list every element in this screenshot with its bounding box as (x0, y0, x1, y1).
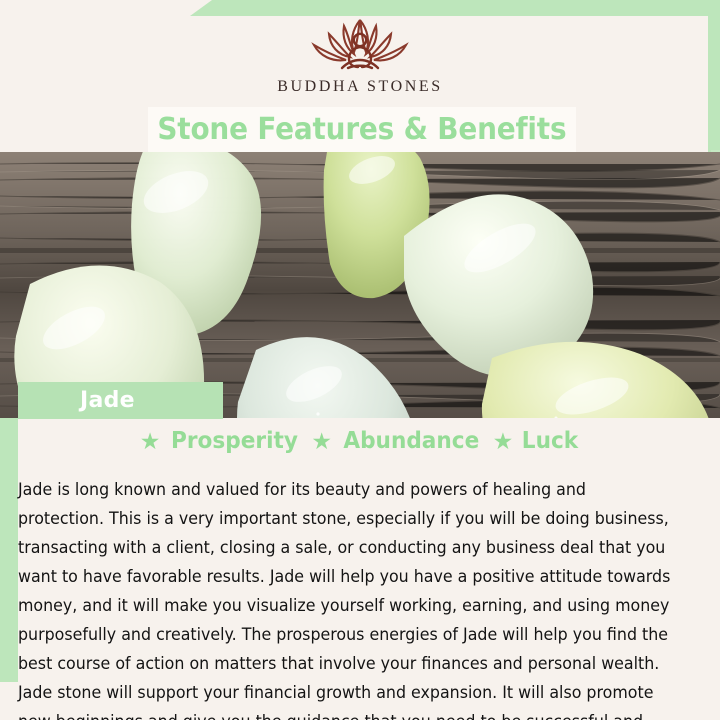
stone-name-label: Jade (80, 388, 135, 413)
keyword-item: ★ Abundance (311, 430, 483, 453)
jade-tumbled-stones-photo (0, 152, 720, 418)
keyword-item: ★ Prosperity (140, 430, 303, 453)
keyword-item: ★ Luck (493, 430, 581, 453)
stone-name-bar: Jade (18, 382, 223, 419)
stones-group (0, 152, 720, 418)
star-icon: ★ (140, 430, 161, 453)
star-icon: ★ (311, 430, 332, 453)
keyword-label: Abundance (343, 430, 479, 453)
brand-name: BUDDHA STONES (277, 78, 443, 96)
page-title: Stone Features & Benefits (158, 112, 567, 147)
keyword-label: Prosperity (171, 430, 298, 453)
brand-logo: BUDDHA STONES (0, 14, 720, 110)
keyword-list: ★ Prosperity ★ Abundance ★ Luck (0, 430, 720, 453)
stone-description: Jade is long known and valued for its be… (18, 475, 677, 720)
stone-benefits-infographic: BUDDHA STONES Stone Features & Benefits (0, 0, 720, 720)
lotus-meditation-icon (300, 14, 420, 76)
star-icon: ★ (493, 430, 514, 453)
title-banner: Stone Features & Benefits (148, 107, 576, 152)
keyword-label: Luck (522, 430, 578, 453)
